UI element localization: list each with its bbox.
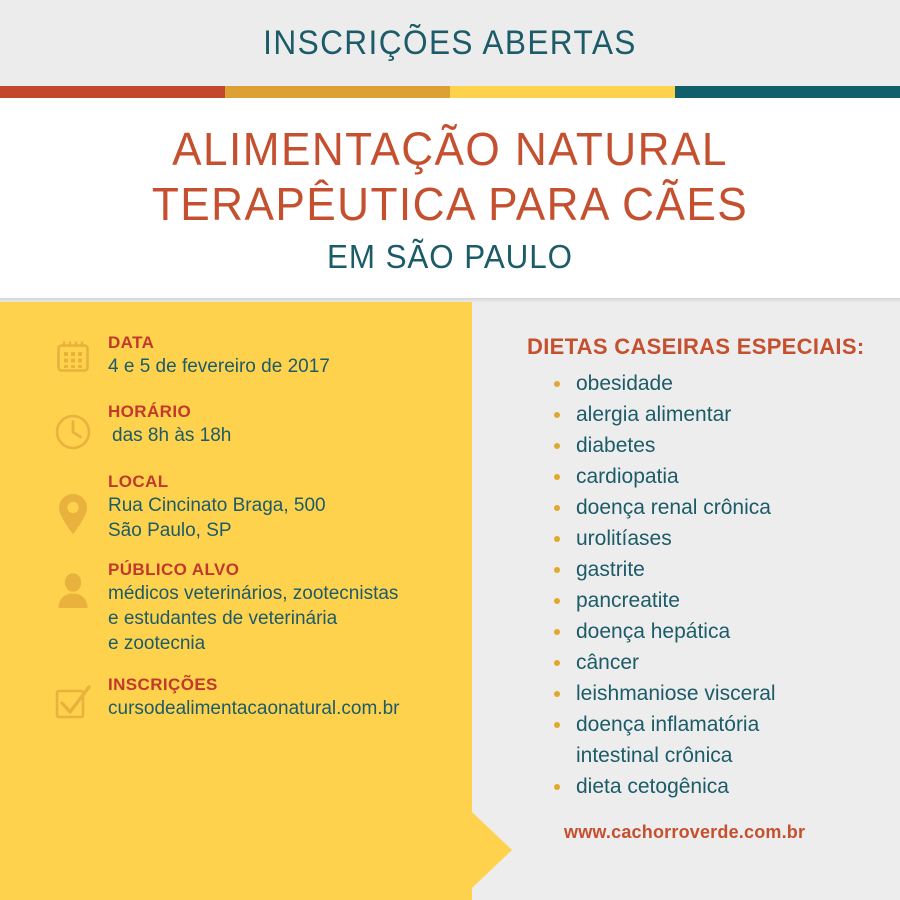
detail-value-data: 4 e 5 de fevereiro de 2017 (108, 354, 458, 379)
color-stripe (0, 86, 900, 98)
detail-row-horario: HORÁRIO das 8h às 18h (48, 401, 458, 451)
detail-label-publico-alvo: PÚBLICO ALVO (108, 559, 458, 581)
detail-row-inscricoes: INSCRIÇÕES cursodealimentacaonatural.com… (48, 674, 458, 722)
detail-body-data: DATA 4 e 5 de fevereiro de 2017 (98, 332, 458, 379)
diet-list-item: cardiopatia (544, 461, 894, 492)
diet-list-item: obesidade (544, 368, 894, 399)
diet-list-item: doença hepática (544, 616, 894, 647)
diet-list-item: urolitíases (544, 523, 894, 554)
poster-root: INSCRIÇÕES ABERTAS ALIMENTAÇÃO NATURAL T… (0, 0, 900, 900)
event-details-list: DATA 4 e 5 de fevereiro de 2017 HORÁRIO … (48, 332, 458, 740)
detail-label-horario: HORÁRIO (108, 401, 458, 423)
detail-value-local: Rua Cincinato Braga, 500 São Paulo, SP (108, 493, 458, 543)
diet-list-item: pancreatite (544, 585, 894, 616)
diets-list: obesidadealergia alimentardiabetescardio… (544, 368, 894, 802)
stripe-segment-orange (225, 86, 450, 98)
page-title-line2: TERAPÊUTICA PARA CÃES (18, 177, 882, 232)
diet-list-item: dieta cetogênica (544, 771, 894, 802)
stripe-segment-yellow (450, 86, 675, 98)
checkbox-check-icon (48, 674, 98, 722)
diets-heading: DIETAS CASEIRAS ESPECIAIS: (527, 334, 864, 360)
detail-row-publico-alvo: PÚBLICO ALVO médicos veterinários, zoote… (48, 559, 458, 656)
detail-body-publico-alvo: PÚBLICO ALVO médicos veterinários, zoote… (98, 559, 458, 656)
detail-value-publico-alvo: médicos veterinários, zootecnistas e est… (108, 581, 458, 656)
detail-body-inscricoes: INSCRIÇÕES cursodealimentacaonatural.com… (98, 674, 458, 721)
page-subtitle: EM SÃO PAULO (23, 238, 878, 276)
event-details-panel: DATA 4 e 5 de fevereiro de 2017 HORÁRIO … (0, 302, 472, 900)
person-icon (48, 559, 98, 609)
diets-panel: DIETAS CASEIRAS ESPECIAIS: obesidadealer… (472, 302, 900, 900)
arrow-right-icon (472, 812, 512, 888)
top-banner: INSCRIÇÕES ABERTAS (0, 0, 900, 86)
location-pin-icon (48, 471, 98, 535)
stripe-segment-teal (675, 86, 900, 98)
clock-icon (48, 401, 98, 451)
detail-value-inscricoes[interactable]: cursodealimentacaonatural.com.br (108, 696, 458, 721)
diet-list-item: doença renal crônica (544, 492, 894, 523)
page-title-line1: ALIMENTAÇÃO NATURAL (18, 122, 882, 177)
detail-label-local: LOCAL (108, 471, 458, 493)
detail-label-data: DATA (108, 332, 458, 354)
banner-title: INSCRIÇÕES ABERTAS (32, 24, 869, 63)
detail-body-local: LOCAL Rua Cincinato Braga, 500 São Paulo… (98, 471, 458, 543)
diet-list-item: diabetes (544, 430, 894, 461)
diet-list-item: gastrite (544, 554, 894, 585)
calendar-icon (48, 332, 98, 374)
diet-list-item: leishmaniose visceral (544, 678, 894, 709)
diet-list-item: alergia alimentar (544, 399, 894, 430)
detail-value-horario: das 8h às 18h (108, 423, 458, 448)
stripe-segment-red (0, 86, 225, 98)
detail-row-local: LOCAL Rua Cincinato Braga, 500 São Paulo… (48, 471, 458, 543)
diet-list-item: câncer (544, 647, 894, 678)
diet-list-item: doença inflamatória intestinal crônica (544, 709, 894, 771)
detail-row-data: DATA 4 e 5 de fevereiro de 2017 (48, 332, 458, 379)
detail-label-inscricoes: INSCRIÇÕES (108, 674, 458, 696)
detail-body-horario: HORÁRIO das 8h às 18h (98, 401, 458, 448)
title-block: ALIMENTAÇÃO NATURAL TERAPÊUTICA PARA CÃE… (0, 98, 900, 302)
page-title: ALIMENTAÇÃO NATURAL TERAPÊUTICA PARA CÃE… (18, 122, 882, 232)
website-url[interactable]: www.cachorroverde.com.br (564, 822, 805, 843)
